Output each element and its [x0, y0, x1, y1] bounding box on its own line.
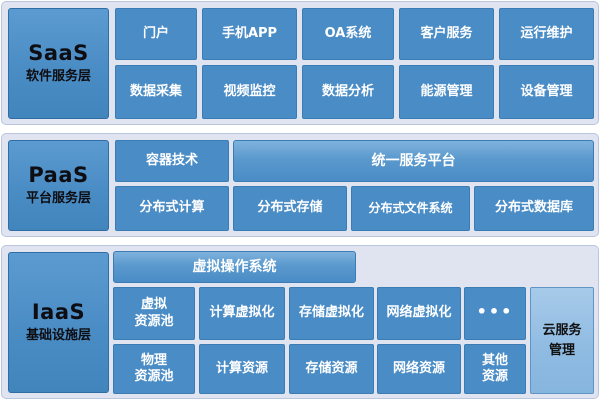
layer-panel-iaas: IaaS 基础设施层 虚拟操作系统 虚拟 资源池 计算虚拟化 存储虚拟化 网络虚…: [1, 245, 599, 399]
layer-label-iaas-en: IaaS: [32, 301, 85, 324]
iaas-tile-virtual-resource-pool[interactable]: 虚拟 资源池: [113, 287, 195, 340]
layer-label-iaas: IaaS 基础设施层: [8, 252, 109, 393]
paas-tile-unified-service-platform[interactable]: 统一服务平台: [233, 140, 594, 182]
layer-panel-saas: SaaS 软件服务层 门户 手机APP OA系统 客户服务 运行维护 数据采集 …: [1, 1, 599, 125]
saas-tile-energy-management[interactable]: 能源管理: [399, 65, 494, 119]
iaas-tile-more-virtualization[interactable]: •••: [464, 287, 526, 340]
iaas-tile-network-virtualization[interactable]: 网络虚拟化: [377, 287, 461, 340]
iaas-tile-other-resource[interactable]: 其他 资源: [464, 344, 526, 394]
iaas-tile-network-resource[interactable]: 网络资源: [377, 344, 461, 394]
saas-tile-operation-maintenance[interactable]: 运行维护: [499, 8, 594, 60]
paas-tile-container-technology[interactable]: 容器技术: [115, 140, 229, 182]
iaas-tile-physical-resource-pool-line2: 资源池: [134, 369, 173, 385]
layer-label-iaas-cn: 基础设施层: [26, 329, 91, 343]
iaas-tile-cloud-service-management-line1: 云服务: [542, 321, 581, 341]
iaas-tile-cloud-service-management[interactable]: 云服务 管理: [530, 287, 594, 394]
paas-tile-distributed-file-system[interactable]: 分布式文件系统: [351, 186, 470, 231]
cloud-architecture-diagram: SaaS 软件服务层 门户 手机APP OA系统 客户服务 运行维护 数据采集 …: [0, 0, 600, 400]
iaas-tile-cloud-service-management-line2: 管理: [549, 341, 575, 361]
iaas-banner-virtual-operating-system[interactable]: 虚拟操作系统: [113, 251, 356, 283]
iaas-tile-compute-resource[interactable]: 计算资源: [199, 344, 285, 394]
layer-panel-paas: PaaS 平台服务层 容器技术 统一服务平台 分布式计算 分布式存储 分布式文件…: [1, 133, 599, 237]
saas-tile-data-collection[interactable]: 数据采集: [115, 65, 197, 119]
layer-label-saas: SaaS 软件服务层: [8, 8, 109, 119]
layer-label-paas-en: PaaS: [28, 164, 88, 187]
saas-tile-portal[interactable]: 门户: [115, 8, 197, 60]
saas-tile-oa-system[interactable]: OA系统: [302, 8, 394, 60]
iaas-tile-storage-virtualization[interactable]: 存储虚拟化: [289, 287, 374, 340]
iaas-tile-other-resource-line1: 其他: [482, 353, 508, 369]
saas-tile-mobile-app[interactable]: 手机APP: [202, 8, 297, 60]
saas-tile-device-management[interactable]: 设备管理: [499, 65, 594, 119]
iaas-tile-virtual-resource-pool-line2: 资源池: [134, 314, 173, 330]
iaas-tile-other-resource-line2: 资源: [482, 369, 508, 385]
saas-tile-data-analysis[interactable]: 数据分析: [302, 65, 394, 119]
saas-tile-video-monitoring[interactable]: 视频监控: [202, 65, 297, 119]
layer-label-paas: PaaS 平台服务层: [8, 140, 109, 231]
iaas-tile-virtual-resource-pool-line1: 虚拟: [141, 297, 167, 313]
paas-tile-distributed-database[interactable]: 分布式数据库: [474, 186, 594, 231]
iaas-tile-physical-resource-pool[interactable]: 物理 资源池: [113, 344, 195, 394]
paas-tile-distributed-computing[interactable]: 分布式计算: [115, 186, 229, 231]
iaas-tile-storage-resource[interactable]: 存储资源: [289, 344, 374, 394]
saas-tile-customer-service[interactable]: 客户服务: [399, 8, 494, 60]
layer-label-paas-cn: 平台服务层: [26, 192, 91, 206]
paas-tile-distributed-storage[interactable]: 分布式存储: [233, 186, 347, 231]
iaas-tile-physical-resource-pool-line1: 物理: [141, 353, 167, 369]
layer-label-saas-en: SaaS: [28, 42, 89, 65]
layer-label-saas-cn: 软件服务层: [26, 70, 91, 84]
iaas-tile-compute-virtualization[interactable]: 计算虚拟化: [199, 287, 285, 340]
